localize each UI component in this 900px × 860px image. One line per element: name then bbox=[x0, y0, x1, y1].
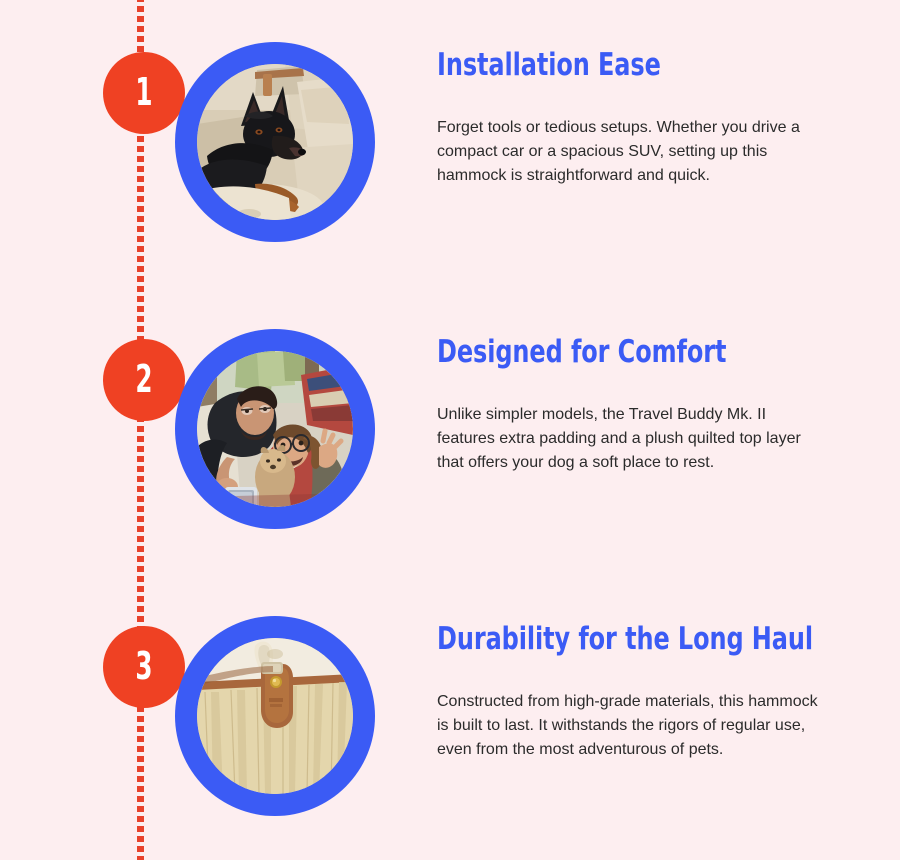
couple-taking-selfie-with-dog-photo bbox=[197, 351, 353, 507]
step-number-badge: 3 bbox=[103, 626, 185, 708]
step-number-label: 2 bbox=[135, 360, 152, 398]
step-item: 2 bbox=[0, 317, 900, 537]
step-heading: Designed for Comfort bbox=[437, 317, 781, 369]
step-body-text: Forget tools or tedious setups. Whether … bbox=[437, 82, 827, 188]
step-number-label: 3 bbox=[135, 647, 152, 685]
step-number-label: 1 bbox=[135, 73, 152, 111]
step-number-badge: 1 bbox=[103, 52, 185, 134]
step-body-text: Unlike simpler models, the Travel Buddy … bbox=[437, 369, 827, 475]
step-photo-ring bbox=[175, 329, 375, 529]
step-heading: Installation Ease bbox=[437, 30, 781, 82]
quilted-hammock-leather-zipper-pull-photo bbox=[197, 638, 353, 794]
step-item: 3 bbox=[0, 604, 900, 824]
step-photo-ring bbox=[175, 42, 375, 242]
step-item: 1 bbox=[0, 30, 900, 250]
step-number-badge: 2 bbox=[103, 339, 185, 421]
step-text-block: Durability for the Long Haul Constructed… bbox=[437, 604, 837, 762]
step-body-text: Constructed from high-grade materials, t… bbox=[437, 656, 827, 762]
doberman-dog-in-car-back-seat-photo bbox=[197, 64, 353, 220]
step-text-block: Installation Ease Forget tools or tediou… bbox=[437, 30, 837, 188]
step-heading: Durability for the Long Haul bbox=[437, 604, 781, 656]
infographic-root: 1 bbox=[0, 0, 900, 860]
step-photo-ring bbox=[175, 616, 375, 816]
step-text-block: Designed for Comfort Unlike simpler mode… bbox=[437, 317, 837, 475]
